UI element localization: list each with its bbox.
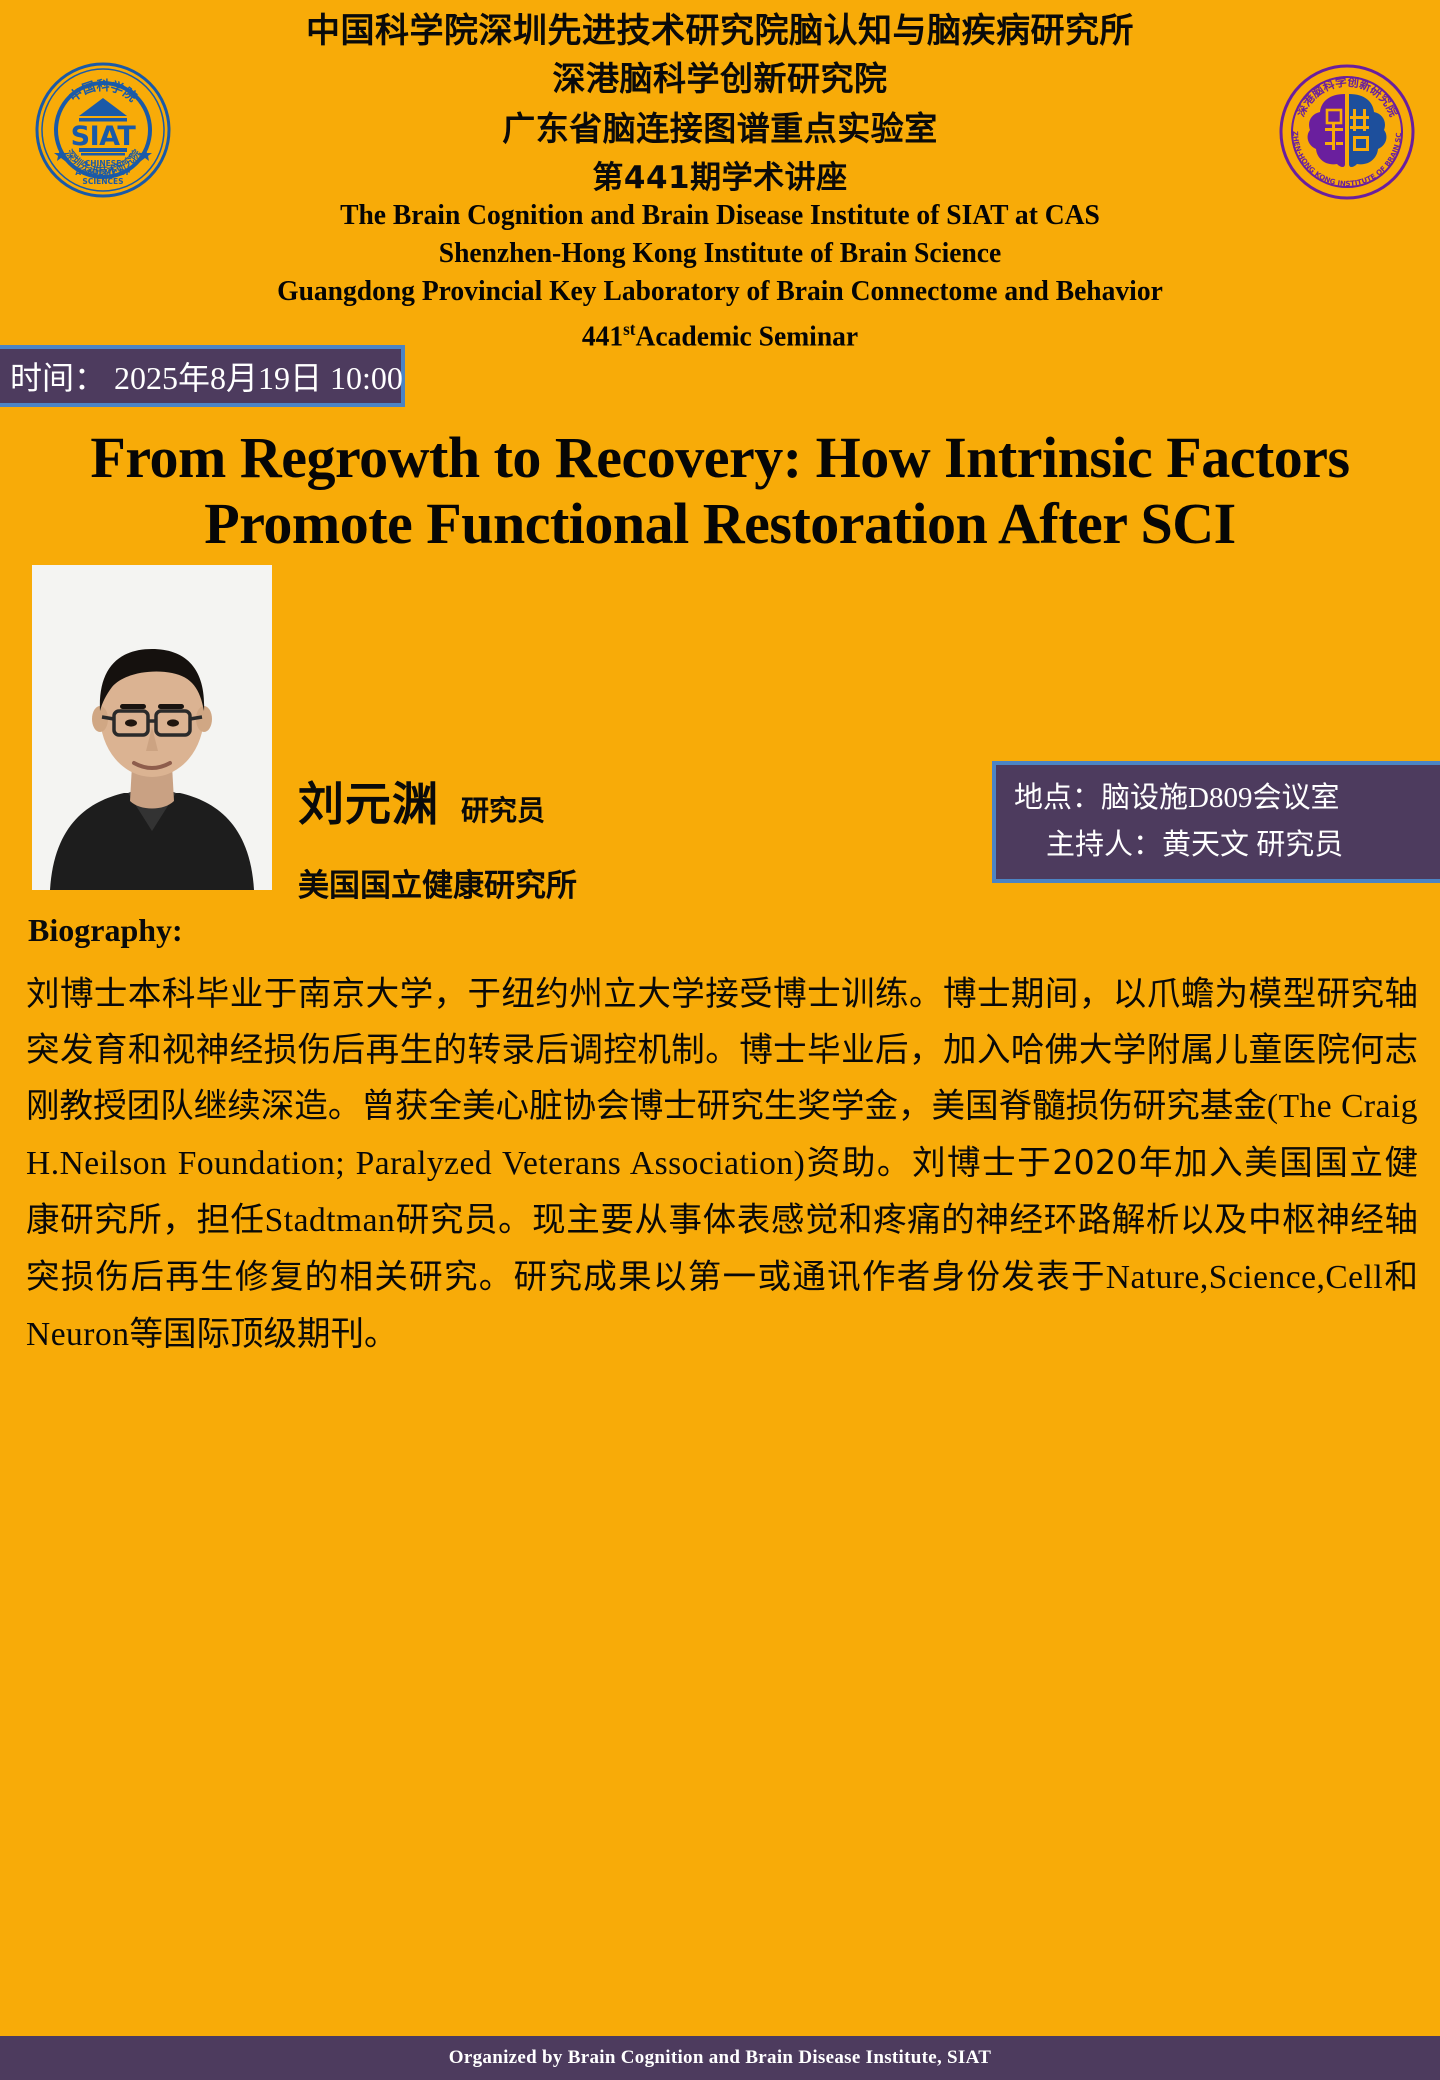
talk-title: From Regrowth to Recovery: How Intrinsic…: [70, 425, 1370, 557]
header-en-line-1: The Brain Cognition and Brain Disease In…: [65, 196, 1376, 234]
portrait-image: [32, 565, 272, 890]
header-chinese-block: 中国科学院深圳先进技术研究院脑认知与脑疾病研究所 深港脑科学创新研究院 广东省脑…: [170, 8, 1270, 202]
brain-logo-icon: 深港脑科学创新研究院 SHENZHEN-HONG KONG INSTITUTE …: [1279, 64, 1415, 200]
venue-location: 地点：脑设施D809会议室: [1014, 775, 1434, 822]
seminar-ordinal-suffix: st: [623, 319, 635, 339]
speaker-affiliation: 美国国立健康研究所: [298, 860, 728, 905]
biography-body: 刘博士本科毕业于南京大学，于纽约州立大学接受博士训练。博士期间，以爪蟾为模型研究…: [26, 966, 1418, 1363]
venue-box: 地点：脑设施D809会议室 主持人：黄天文 研究员: [992, 761, 1440, 883]
shk-brain-science-logo: 深港脑科学创新研究院 SHENZHEN-HONG KONG INSTITUTE …: [1279, 64, 1415, 200]
speaker-info: 刘元渊 研究员 美国国立健康研究所: [298, 768, 728, 905]
bio-role-name: Stadtman: [265, 1202, 396, 1239]
svg-text:ACADEMY OF: ACADEMY OF: [75, 168, 130, 177]
seminar-suffix: Academic Seminar: [635, 321, 858, 353]
siat-cas-logo: 中国科学院 深圳先进技术研究院 SIAT CHINESE ACADEMY OF …: [35, 62, 171, 198]
biography-heading: Biography:: [28, 912, 183, 949]
svg-text:深港脑科学创新研究院: 深港脑科学创新研究院: [1293, 75, 1401, 120]
bio-paragraph-4: 和: [1383, 1257, 1418, 1296]
footer-text: Organized by Brain Cognition and Brain D…: [449, 2047, 991, 2069]
seminar-poster: 中国科学院 深圳先进技术研究院 SIAT CHINESE ACADEMY OF …: [0, 0, 1440, 2080]
venue-host: 主持人：黄天文 研究员: [1014, 822, 1434, 869]
header-cn-line-2: 深港脑科学创新研究院: [170, 54, 1270, 104]
header-en-line-3: Guangdong Provincial Key Laboratory of B…: [65, 272, 1376, 310]
time-box: 时间： 2025年8月19日 10:00: [0, 345, 405, 407]
siat-logo-icon: 中国科学院 深圳先进技术研究院 SIAT CHINESE ACADEMY OF …: [35, 62, 171, 198]
bio-journals-2: Neuron: [26, 1316, 129, 1353]
header-cn-line-3: 广东省脑连接图谱重点实验室: [170, 104, 1270, 154]
svg-text:CHINESE: CHINESE: [85, 159, 122, 168]
header-english-block: The Brain Cognition and Brain Disease In…: [30, 196, 1410, 356]
svg-text:SCIENCES: SCIENCES: [82, 177, 123, 186]
bio-journals: Nature,Science,Cell: [1106, 1259, 1383, 1296]
seminar-number: 441: [582, 321, 623, 353]
speaker-name: 刘元渊: [298, 768, 439, 834]
header-en-line-2: Shenzhen-Hong Kong Institute of Brain Sc…: [65, 234, 1376, 272]
speaker-rank: 研究员: [461, 789, 545, 829]
bio-paragraph-1: 刘博士本科毕业于南京大学，于纽约州立大学接受博士训练。博士期间，以爪蟾为模型研究…: [26, 974, 1418, 1125]
bio-paragraph-5: 等国际顶级期刊。: [129, 1314, 397, 1353]
header-cn-line-4: 第441期学术讲座: [170, 154, 1270, 202]
speaker-name-row: 刘元渊 研究员: [298, 768, 728, 834]
svg-text:SIAT: SIAT: [71, 121, 137, 152]
time-text: 时间： 2025年8月19日 10:00: [0, 353, 403, 399]
poster-header: 中国科学院 深圳先进技术研究院 SIAT CHINESE ACADEMY OF …: [0, 0, 1440, 345]
poster-footer: Organized by Brain Cognition and Brain D…: [0, 2036, 1440, 2080]
speaker-photo: [32, 565, 272, 890]
header-cn-line-1: 中国科学院深圳先进技术研究院脑认知与脑疾病研究所: [170, 8, 1270, 54]
